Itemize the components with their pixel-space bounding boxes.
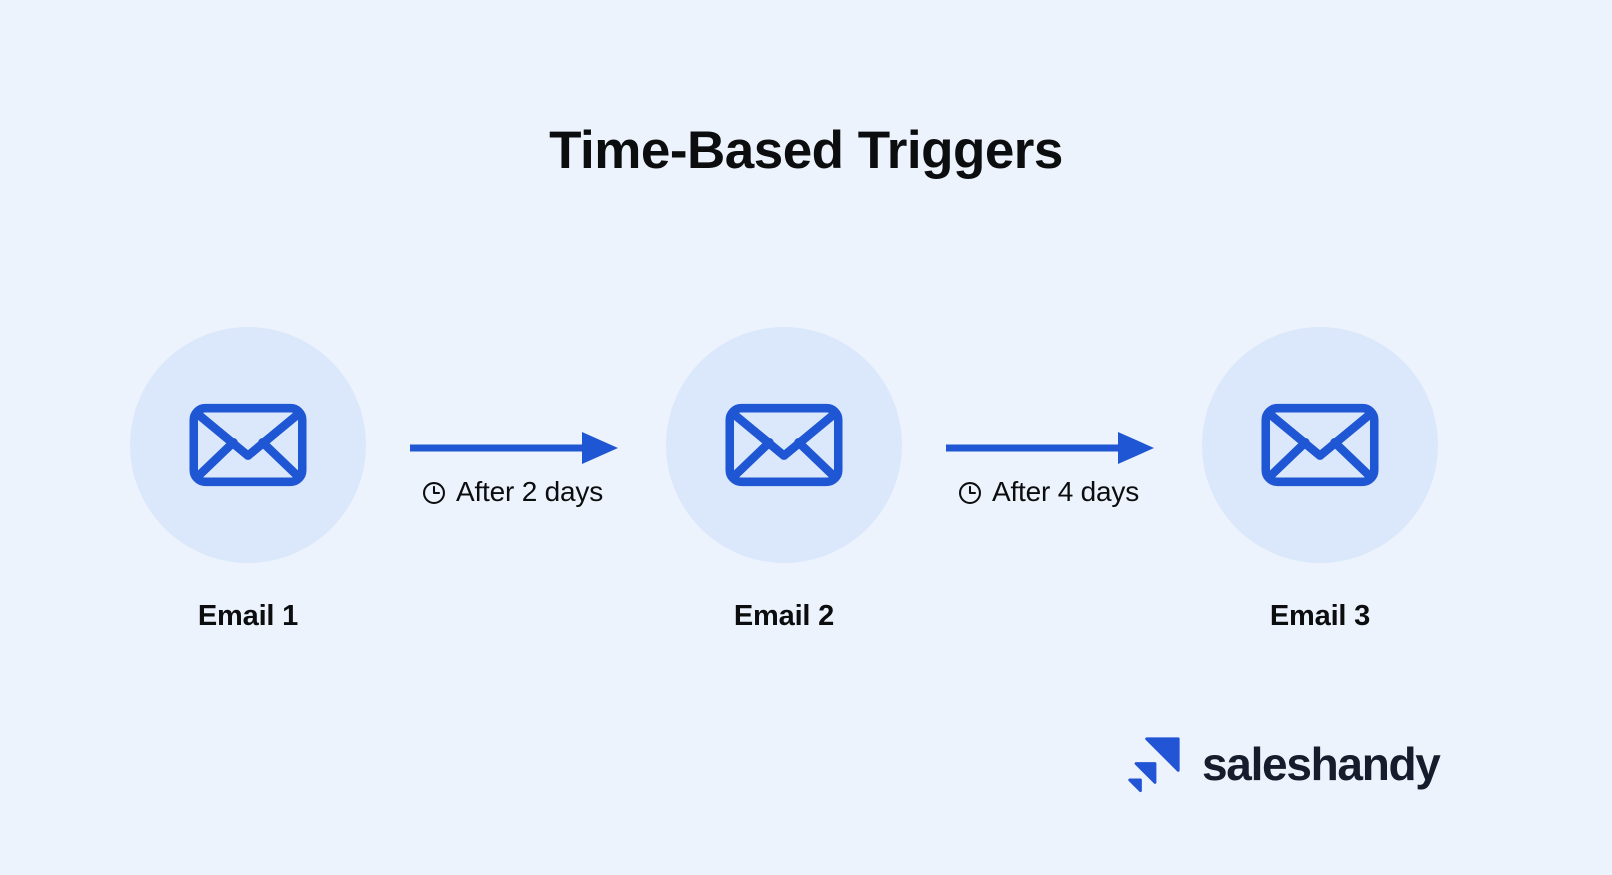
flow-node-email-2: Email 2 bbox=[666, 327, 902, 563]
saleshandy-mark-icon bbox=[1122, 733, 1184, 795]
flow-node-email-3: Email 3 bbox=[1202, 327, 1438, 563]
flow-node-label: Email 1 bbox=[70, 600, 426, 633]
arrow-right-icon bbox=[946, 428, 1156, 468]
page-title: Time-Based Triggers bbox=[0, 122, 1612, 180]
flow-connector-caption: After 4 days bbox=[932, 476, 1164, 508]
flow-connector-2: After 4 days bbox=[932, 418, 1164, 534]
envelope-icon bbox=[722, 383, 846, 507]
envelope-icon bbox=[1258, 383, 1382, 507]
clock-icon bbox=[421, 480, 447, 506]
arrow-right-icon bbox=[410, 428, 620, 468]
brand-wordmark: saleshandy bbox=[1202, 741, 1440, 787]
flow-connector-text: After 2 days bbox=[456, 476, 603, 508]
flow-node-label: Email 3 bbox=[1142, 600, 1498, 633]
flow-node-email-1: Email 1 bbox=[130, 327, 366, 563]
envelope-icon bbox=[186, 383, 310, 507]
infographic-canvas: Time-Based Triggers Email 1 After 2 days bbox=[0, 0, 1612, 875]
flow-connector-1: After 2 days bbox=[396, 418, 628, 534]
flow-node-label: Email 2 bbox=[606, 600, 962, 633]
flow-connector-text: After 4 days bbox=[992, 476, 1139, 508]
brand-logo: saleshandy bbox=[1122, 728, 1440, 800]
clock-icon bbox=[957, 480, 983, 506]
flow-connector-caption: After 2 days bbox=[396, 476, 628, 508]
